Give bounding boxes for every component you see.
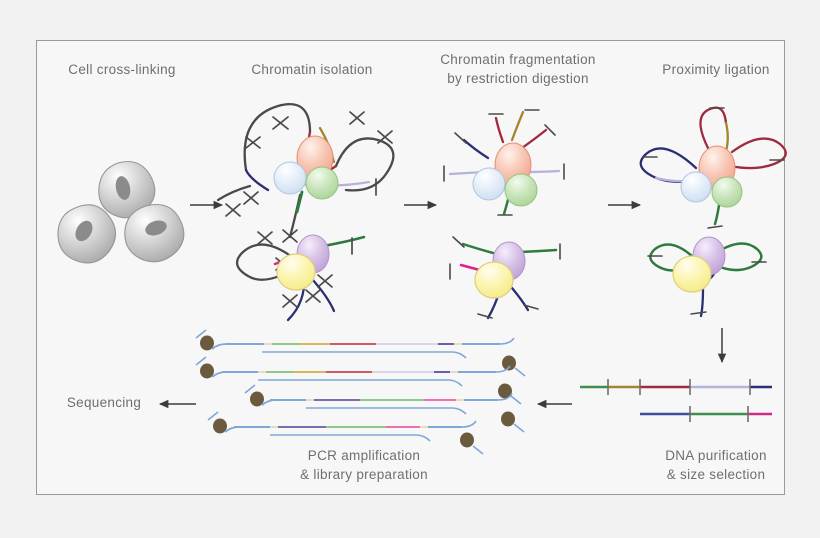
- label-chromatin-fragmentation: Chromatin fragmentation by restriction d…: [418, 50, 618, 88]
- diagram-panel: [36, 40, 785, 495]
- label-cell-crosslinking: Cell cross-linking: [48, 60, 196, 79]
- label-dna-purification: DNA purification & size selection: [636, 446, 796, 484]
- figure-canvas: Cell cross-linking Chromatin isolation C…: [0, 0, 820, 538]
- label-proximity-ligation: Proximity ligation: [640, 60, 792, 79]
- label-sequencing: Sequencing: [54, 393, 154, 412]
- label-chromatin-isolation: Chromatin isolation: [232, 60, 392, 79]
- label-pcr-amplification: PCR amplification & library preparation: [258, 446, 470, 484]
